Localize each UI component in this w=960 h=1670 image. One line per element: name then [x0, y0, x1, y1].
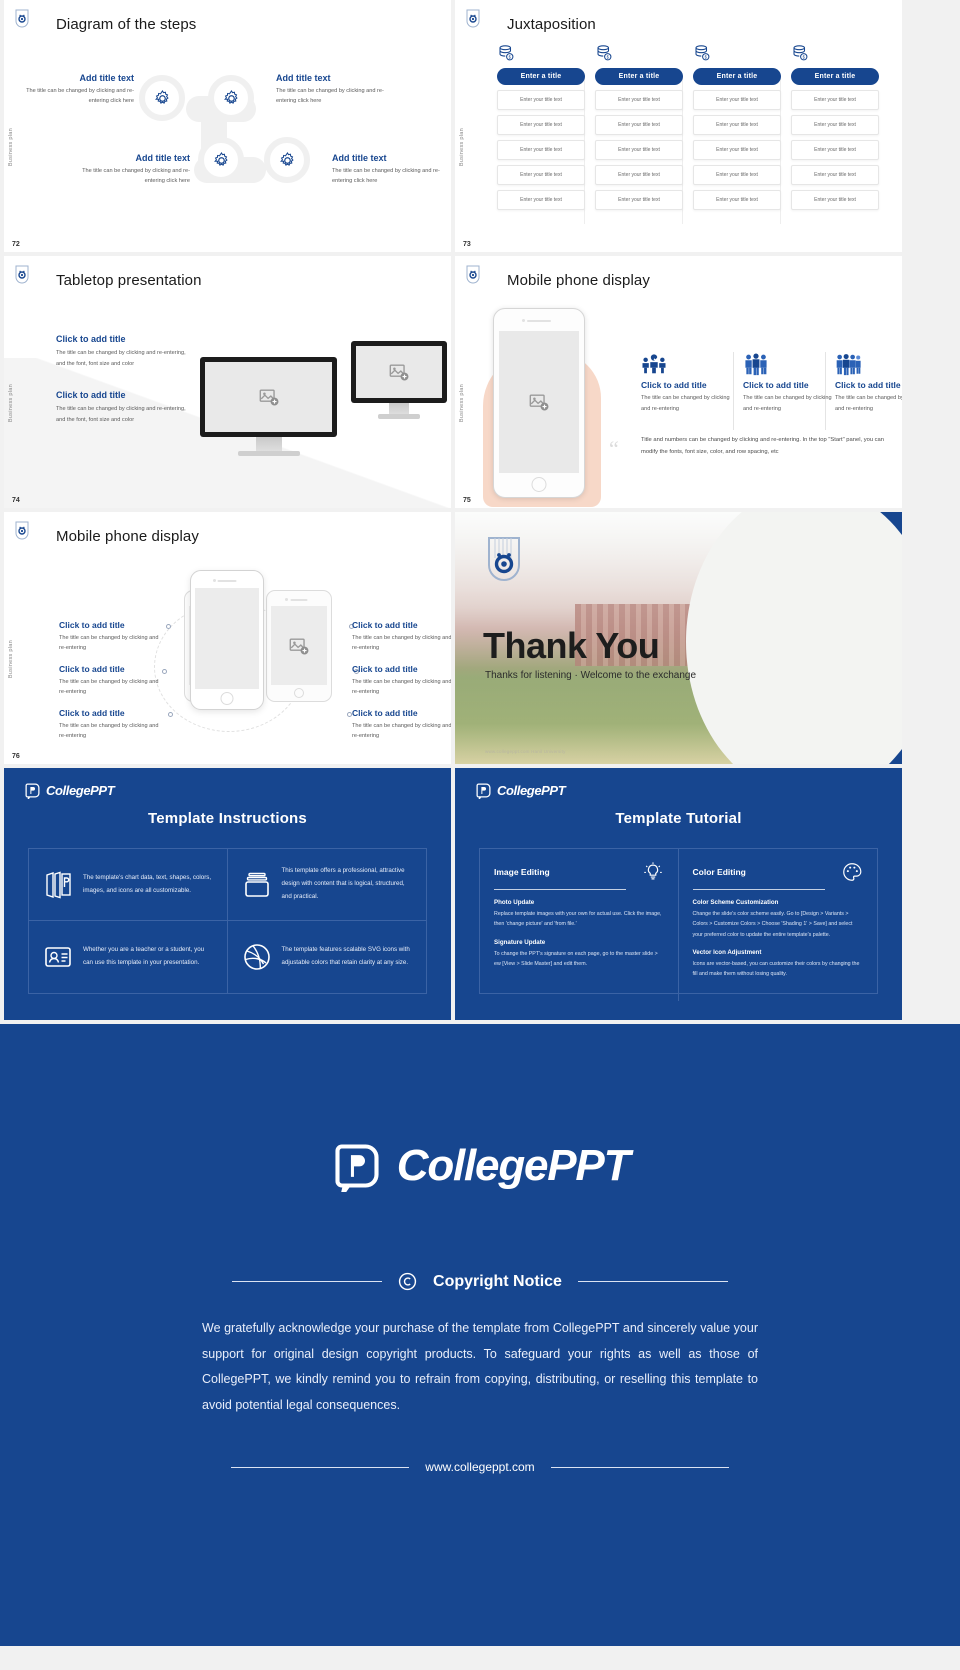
juxta-column-2[interactable]: $ Enter a title Enter your title text En…	[595, 44, 683, 210]
step-node-1[interactable]	[139, 75, 185, 121]
phone-speaker	[527, 320, 551, 322]
step-title: Add title text	[276, 73, 384, 83]
website-row: www.collegeppt.com	[0, 1460, 960, 1474]
instruction-text: The template's chart data, text, shapes,…	[83, 872, 213, 897]
svg-text:$: $	[705, 54, 708, 59]
connector-dot	[166, 624, 171, 629]
mobile-feature-3: Click to add title The title can be chan…	[835, 352, 902, 414]
layers-box-icon	[242, 870, 272, 900]
gear-icon	[212, 151, 231, 170]
rule-right	[578, 1281, 728, 1282]
left-item-3: Click to add title The title can be chan…	[59, 708, 163, 742]
phone-camera	[285, 598, 288, 601]
item-body: The title can be changed by clicking and…	[56, 348, 188, 369]
section-body: Replace template images with your own fo…	[494, 909, 664, 930]
step-text-3: Add title text The title can be changed …	[82, 153, 190, 187]
tabletop-text-2: Click to add title The title can be chan…	[56, 390, 188, 425]
item-title: Click to add title	[59, 708, 163, 718]
item-body: The title can be changed by clicking and…	[59, 633, 163, 654]
instruction-cell-2: This template offers a professional, att…	[228, 849, 427, 921]
database-coins-icon: $	[595, 44, 683, 66]
palette-icon	[841, 861, 863, 883]
rule-left	[232, 1281, 382, 1282]
item-body: The title can be changed by clicking and…	[56, 404, 188, 425]
tutorial-section-2: Vector Icon Adjustment Icons are vector-…	[693, 949, 864, 980]
item-body: The title can be changed by clicking and…	[59, 721, 163, 742]
juxta-cell[interactable]: Enter your title text	[791, 190, 879, 210]
phone-home-button[interactable]	[294, 688, 304, 698]
slide-mobile-phone-display-1[interactable]: Business plan Mobile phone display	[455, 256, 902, 508]
add-image-icon	[356, 346, 442, 398]
svg-text:$: $	[607, 54, 610, 59]
phone-speaker	[291, 599, 308, 601]
phone-mockup-center[interactable]	[190, 570, 264, 710]
page-title: Juxtaposition	[507, 16, 596, 33]
people-row-icon	[835, 352, 902, 380]
phone-camera	[213, 579, 216, 582]
phone-speaker	[218, 580, 237, 582]
item-body: The title can be changed by clicking and…	[352, 633, 451, 654]
slide-juxtaposition[interactable]: Business plan Juxtaposition $ Enter a ti…	[455, 0, 902, 252]
rule-right	[551, 1467, 729, 1468]
section-body: To change the PPT's signature on each pa…	[494, 949, 664, 970]
university-crest-icon	[14, 264, 30, 284]
item-title: Click to add title	[56, 390, 188, 400]
slide-row-4: CollegePPT Template Instructions The tem…	[0, 768, 960, 1020]
item-title: Click to add title	[743, 380, 839, 390]
thank-you-subheading: Thanks for listening · Welcome to the ex…	[485, 670, 696, 681]
item-title: Click to add title	[352, 708, 451, 718]
juxta-cell[interactable]: Enter your title text	[497, 140, 585, 160]
add-image-icon	[271, 606, 327, 685]
gear-icon	[153, 89, 172, 108]
slide-heading: Template Instructions	[4, 810, 451, 827]
juxta-column-1[interactable]: $ Enter a title Enter your title text En…	[497, 44, 585, 210]
collegeppt-mark-icon	[331, 1140, 383, 1192]
phone-home-button[interactable]	[532, 477, 547, 492]
slide-template-tutorial[interactable]: CollegePPT Template Tutorial Image Editi…	[455, 768, 902, 1020]
university-crest-icon	[465, 8, 481, 28]
page-number: 73	[463, 241, 471, 248]
juxta-cell[interactable]: Enter your title text	[595, 190, 683, 210]
sidebar-tag: Business plan	[8, 640, 14, 678]
item-title: Click to add title	[59, 664, 163, 674]
step-title: Add title text	[82, 153, 190, 163]
item-body: The title can be changed by clicking and…	[59, 677, 163, 698]
quote-text: Title and numbers can be changed by clic…	[641, 434, 889, 458]
juxta-title-button[interactable]: Enter a title	[497, 68, 585, 85]
presentation-slides-icon	[43, 870, 73, 900]
page-number: 72	[12, 241, 20, 248]
instruction-cell-3: Whether you are a teacher or a student, …	[29, 921, 228, 993]
thank-you-footer: www.collegeppt.com Hanil University	[485, 749, 566, 754]
right-item-1: Click to add title The title can be chan…	[352, 620, 451, 654]
mobile-feature-1: Click to add title The title can be chan…	[641, 352, 737, 414]
item-body: The title can be changed by clicking and…	[352, 677, 451, 698]
page-number: 75	[463, 497, 471, 504]
slide-mobile-phone-display-2[interactable]: Business plan Mobile phone display	[4, 512, 451, 764]
item-title: Click to add title	[835, 380, 902, 390]
juxta-cell[interactable]: Enter your title text	[791, 115, 879, 135]
team-check-icon	[641, 352, 737, 380]
instruction-text: This template offers a professional, att…	[282, 865, 413, 903]
instructions-grid: The template's chart data, text, shapes,…	[28, 848, 427, 994]
slide-row-2: Business plan Tabletop presentation Clic…	[0, 256, 960, 508]
brand-logo: CollegePPT	[24, 782, 114, 799]
section-body: Icons are vector-based, you can customiz…	[693, 959, 864, 980]
panel-header: Color Editing	[693, 861, 864, 883]
slide-template-instructions[interactable]: CollegePPT Template Instructions The tem…	[4, 768, 451, 1020]
section-title: Signature Update	[494, 939, 664, 946]
panel-title: Image Editing	[494, 867, 550, 877]
slide-diagram-of-steps[interactable]: Business plan Diagram of the steps	[4, 0, 451, 252]
slide-copyright-notice[interactable]: CollegePPT Copyright Notice We gratefull…	[0, 1024, 960, 1646]
right-item-3: Click to add title The title can be chan…	[352, 708, 451, 742]
panel-header: Image Editing	[494, 861, 664, 883]
database-coins-icon: $	[791, 44, 879, 66]
quote-open-icon: “	[609, 438, 619, 460]
copyright-notice-header: Copyright Notice	[0, 1272, 960, 1291]
step-body: The title can be changed by clicking and…	[332, 166, 440, 187]
university-crest-icon	[14, 520, 30, 540]
step-node-2[interactable]	[208, 75, 254, 121]
juxta-cell[interactable]: Enter your title text	[497, 165, 585, 185]
sidebar-tag: Business plan	[8, 384, 14, 422]
item-title: Click to add title	[641, 380, 737, 390]
rule-left	[231, 1467, 409, 1468]
notice-title: Copyright Notice	[433, 1273, 562, 1291]
juxta-cell[interactable]: Enter your title text	[693, 165, 781, 185]
database-coins-icon: $	[693, 44, 781, 66]
university-crest-icon	[483, 534, 525, 586]
website-url[interactable]: www.collegeppt.com	[425, 1460, 534, 1474]
step-node-4[interactable]	[264, 137, 310, 183]
step-text-1: Add title text The title can be changed …	[26, 73, 134, 107]
step-title: Add title text	[332, 153, 440, 163]
tutorial-panel-color-editing: Color Editing Color Scheme Customization…	[679, 849, 878, 1001]
tutorial-section-2: Signature Update To change the PPT's sig…	[494, 939, 664, 970]
svg-text:$: $	[509, 54, 512, 59]
juxta-cell[interactable]: Enter your title text	[693, 140, 781, 160]
step-text-4: Add title text The title can be changed …	[332, 153, 440, 187]
item-title: Click to add title	[352, 620, 451, 630]
connector-dot	[168, 712, 173, 717]
collegeppt-mark-icon	[475, 782, 492, 799]
juxta-cell[interactable]: Enter your title text	[497, 190, 585, 210]
juxta-cell[interactable]: Enter your title text	[595, 115, 683, 135]
id-card-icon	[43, 942, 73, 972]
section-title: Color Scheme Customization	[693, 899, 864, 906]
page-title: Mobile phone display	[56, 528, 199, 545]
step-body: The title can be changed by clicking and…	[276, 86, 384, 107]
juxta-cell[interactable]: Enter your title text	[693, 90, 781, 110]
juxta-cell[interactable]: Enter your title text	[595, 165, 683, 185]
instruction-cell-4: The template features scalable SVG icons…	[228, 921, 427, 993]
phone-mockup-right[interactable]	[266, 590, 332, 702]
juxta-title-button[interactable]: Enter a title	[791, 68, 879, 85]
item-body: The title can be changed by clicking and…	[743, 393, 839, 414]
item-title: Click to add title	[59, 620, 163, 630]
juxta-cell[interactable]: Enter your title text	[693, 190, 781, 210]
slide-heading: Template Tutorial	[455, 810, 902, 827]
page-number: 76	[12, 753, 20, 760]
slide-thank-you[interactable]: Thank You Thanks for listening · Welcome…	[455, 512, 902, 764]
sidebar-tag: Business plan	[459, 128, 465, 166]
page-title: Tabletop presentation	[56, 272, 202, 289]
item-body: The title can be changed by clicking and…	[641, 393, 737, 414]
juxta-cell[interactable]: Enter your title text	[791, 140, 879, 160]
decorative-curve-light	[686, 512, 902, 764]
panel-rule	[494, 889, 626, 890]
panel-title: Color Editing	[693, 867, 746, 877]
juxta-title-button[interactable]: Enter a title	[595, 68, 683, 85]
panel-rule	[693, 889, 826, 890]
monitor-primary[interactable]	[200, 357, 337, 456]
item-title: Click to add title	[352, 664, 451, 674]
add-image-icon	[499, 331, 579, 473]
copyright-body: We gratefully acknowledge your purchase …	[202, 1316, 758, 1419]
step-title: Add title text	[26, 73, 134, 83]
left-item-2: Click to add title The title can be chan…	[59, 664, 163, 698]
right-item-2: Click to add title The title can be chan…	[352, 664, 451, 698]
juxta-cell[interactable]: Enter your title text	[791, 165, 879, 185]
brand-name: CollegePPT	[497, 783, 565, 798]
left-item-1: Click to add title The title can be chan…	[59, 620, 163, 654]
tutorial-grid: Image Editing Photo Update Replace templ…	[479, 848, 878, 994]
add-image-icon	[205, 362, 332, 432]
juxta-cell[interactable]: Enter your title text	[595, 140, 683, 160]
step-node-3[interactable]	[198, 137, 244, 183]
page-title: Mobile phone display	[507, 272, 650, 289]
copyright-icon	[398, 1272, 417, 1291]
juxta-cell[interactable]: Enter your title text	[497, 115, 585, 135]
instruction-text: Whether you are a teacher or a student, …	[83, 944, 213, 969]
lightbulb-icon	[642, 861, 664, 883]
quote-block: “ Title and numbers can be changed by cl…	[641, 434, 889, 458]
item-title: Click to add title	[56, 334, 188, 344]
gear-icon	[222, 89, 241, 108]
slide-row-1: Business plan Diagram of the steps	[0, 0, 960, 252]
phone-mockup[interactable]	[493, 308, 585, 498]
juxta-cell[interactable]: Enter your title text	[595, 90, 683, 110]
steps-diagram: Add title text The title can be changed …	[4, 0, 451, 252]
juxta-column-4[interactable]: $ Enter a title Enter your title text En…	[791, 44, 879, 210]
step-body: The title can be changed by clicking and…	[26, 86, 134, 107]
dribbble-ball-icon	[242, 942, 272, 972]
people-group-icon	[743, 352, 839, 380]
thank-you-heading: Thank You	[483, 625, 659, 667]
brand-logo-large: CollegePPT	[0, 1140, 960, 1192]
juxta-cell[interactable]: Enter your title text	[791, 90, 879, 110]
section-title: Photo Update	[494, 899, 664, 906]
step-text-2: Add title text The title can be changed …	[276, 73, 384, 107]
section-title: Vector Icon Adjustment	[693, 949, 864, 956]
instruction-text: The template features scalable SVG icons…	[282, 944, 413, 969]
brand-name: CollegePPT	[397, 1141, 630, 1191]
sidebar-tag: Business plan	[459, 384, 465, 422]
slide-grid: Business plan Diagram of the steps	[0, 0, 960, 1646]
slide-tabletop-presentation[interactable]: Business plan Tabletop presentation Clic…	[4, 256, 451, 508]
brand-name: CollegePPT	[46, 783, 114, 798]
university-crest-icon	[465, 264, 481, 284]
brand-logo: CollegePPT	[475, 782, 565, 799]
slide-row-3: Business plan Mobile phone display	[0, 512, 960, 764]
juxta-cell[interactable]: Enter your title text	[693, 115, 781, 135]
database-coins-icon: $	[497, 44, 585, 66]
item-body: The title can be changed by clicking and…	[835, 393, 902, 414]
gear-icon	[278, 151, 297, 170]
mobile-feature-2: Click to add title The title can be chan…	[743, 352, 839, 414]
tabletop-text-1: Click to add title The title can be chan…	[56, 334, 188, 369]
phone-screen	[195, 588, 259, 689]
step-body: The title can be changed by clicking and…	[82, 166, 190, 187]
svg-text:$: $	[803, 54, 806, 59]
juxta-column-3[interactable]: $ Enter a title Enter your title text En…	[693, 44, 781, 210]
phone-camera	[522, 319, 525, 322]
juxta-cell[interactable]: Enter your title text	[497, 90, 585, 110]
hand-holding-phone	[475, 300, 615, 505]
collegeppt-mark-icon	[24, 782, 41, 799]
phone-home-button[interactable]	[221, 692, 234, 705]
tutorial-section-1: Photo Update Replace template images wit…	[494, 899, 664, 930]
tutorial-panel-image-editing: Image Editing Photo Update Replace templ…	[480, 849, 679, 1001]
monitor-secondary[interactable]	[351, 341, 447, 419]
page-number: 74	[12, 497, 20, 504]
juxta-title-button[interactable]: Enter a title	[693, 68, 781, 85]
tutorial-section-1: Color Scheme Customization Change the sl…	[693, 899, 864, 940]
section-body: Change the slide's color scheme easily. …	[693, 909, 864, 940]
instruction-cell-1: The template's chart data, text, shapes,…	[29, 849, 228, 921]
item-body: The title can be changed by clicking and…	[352, 721, 451, 742]
